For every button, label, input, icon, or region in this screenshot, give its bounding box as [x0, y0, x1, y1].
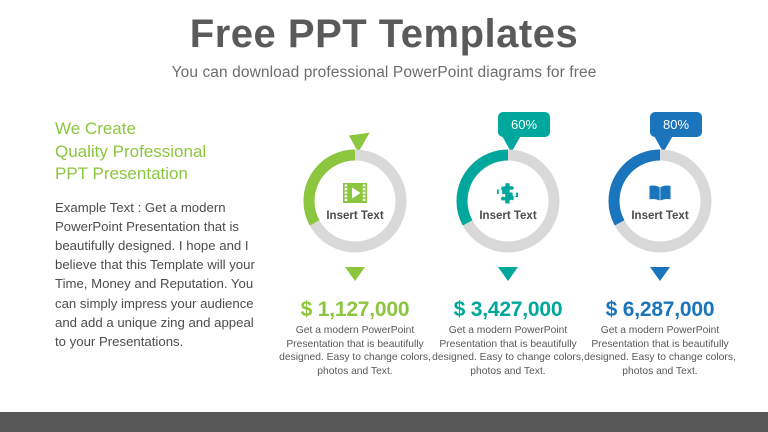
- left-text-column: We Create Quality Professional PPT Prese…: [55, 118, 260, 351]
- left-heading-line-3: PPT Presentation: [55, 163, 260, 186]
- donut-chart-2[interactable]: Insert Text: [453, 146, 563, 256]
- page-title: Free PPT Templates: [0, 0, 768, 55]
- left-body-paragraph: Example Text : Get a modern PowerPoint P…: [55, 186, 260, 351]
- donut-center-label-3: Insert Text: [631, 210, 688, 222]
- stat-description-1: Get a modern PowerPoint Presentation tha…: [272, 324, 438, 378]
- donut-center-label-1: Insert Text: [326, 210, 383, 222]
- puzzle-piece-icon: [495, 180, 521, 206]
- open-book-icon: [647, 180, 673, 206]
- down-arrow-icon-2: [498, 267, 518, 281]
- page-subtitle: You can download professional PowerPoint…: [0, 55, 768, 82]
- percent-badge-label-3: 80%: [650, 112, 702, 137]
- stat-block-3: $ 6,287,000 Get a modern PowerPoint Pres…: [577, 298, 743, 378]
- stat-description-3: Get a modern PowerPoint Presentation tha…: [577, 324, 743, 378]
- footer-bar: [0, 412, 768, 432]
- left-heading: We Create Quality Professional PPT Prese…: [55, 118, 260, 186]
- donut-center-3: Insert Text: [605, 146, 715, 256]
- left-heading-line-2: Quality Professional: [55, 141, 260, 164]
- down-arrow-icon-3: [650, 267, 670, 281]
- donut-chart-3[interactable]: Insert Text: [605, 146, 715, 256]
- donut-center-2: Insert Text: [453, 146, 563, 256]
- film-play-icon: [342, 180, 368, 206]
- donut-center-label-2: Insert Text: [479, 210, 536, 222]
- donut-chart-1[interactable]: Insert Text: [300, 146, 410, 256]
- slide-header: Free PPT Templates You can download prof…: [0, 0, 768, 82]
- donut-center-1: Insert Text: [300, 146, 410, 256]
- left-heading-line-1: We Create: [55, 118, 260, 141]
- down-arrow-icon-1: [345, 267, 365, 281]
- percent-badge-label-2: 60%: [498, 112, 550, 137]
- stat-amount-1: $ 1,127,000: [272, 298, 438, 321]
- stat-description-2: Get a modern PowerPoint Presentation tha…: [425, 324, 591, 378]
- percent-badge-label-1: 22%: [345, 112, 397, 137]
- stat-block-1: $ 1,127,000 Get a modern PowerPoint Pres…: [272, 298, 438, 378]
- stat-block-2: $ 3,427,000 Get a modern PowerPoint Pres…: [425, 298, 591, 378]
- stat-amount-2: $ 3,427,000: [425, 298, 591, 321]
- stat-amount-3: $ 6,287,000: [577, 298, 743, 321]
